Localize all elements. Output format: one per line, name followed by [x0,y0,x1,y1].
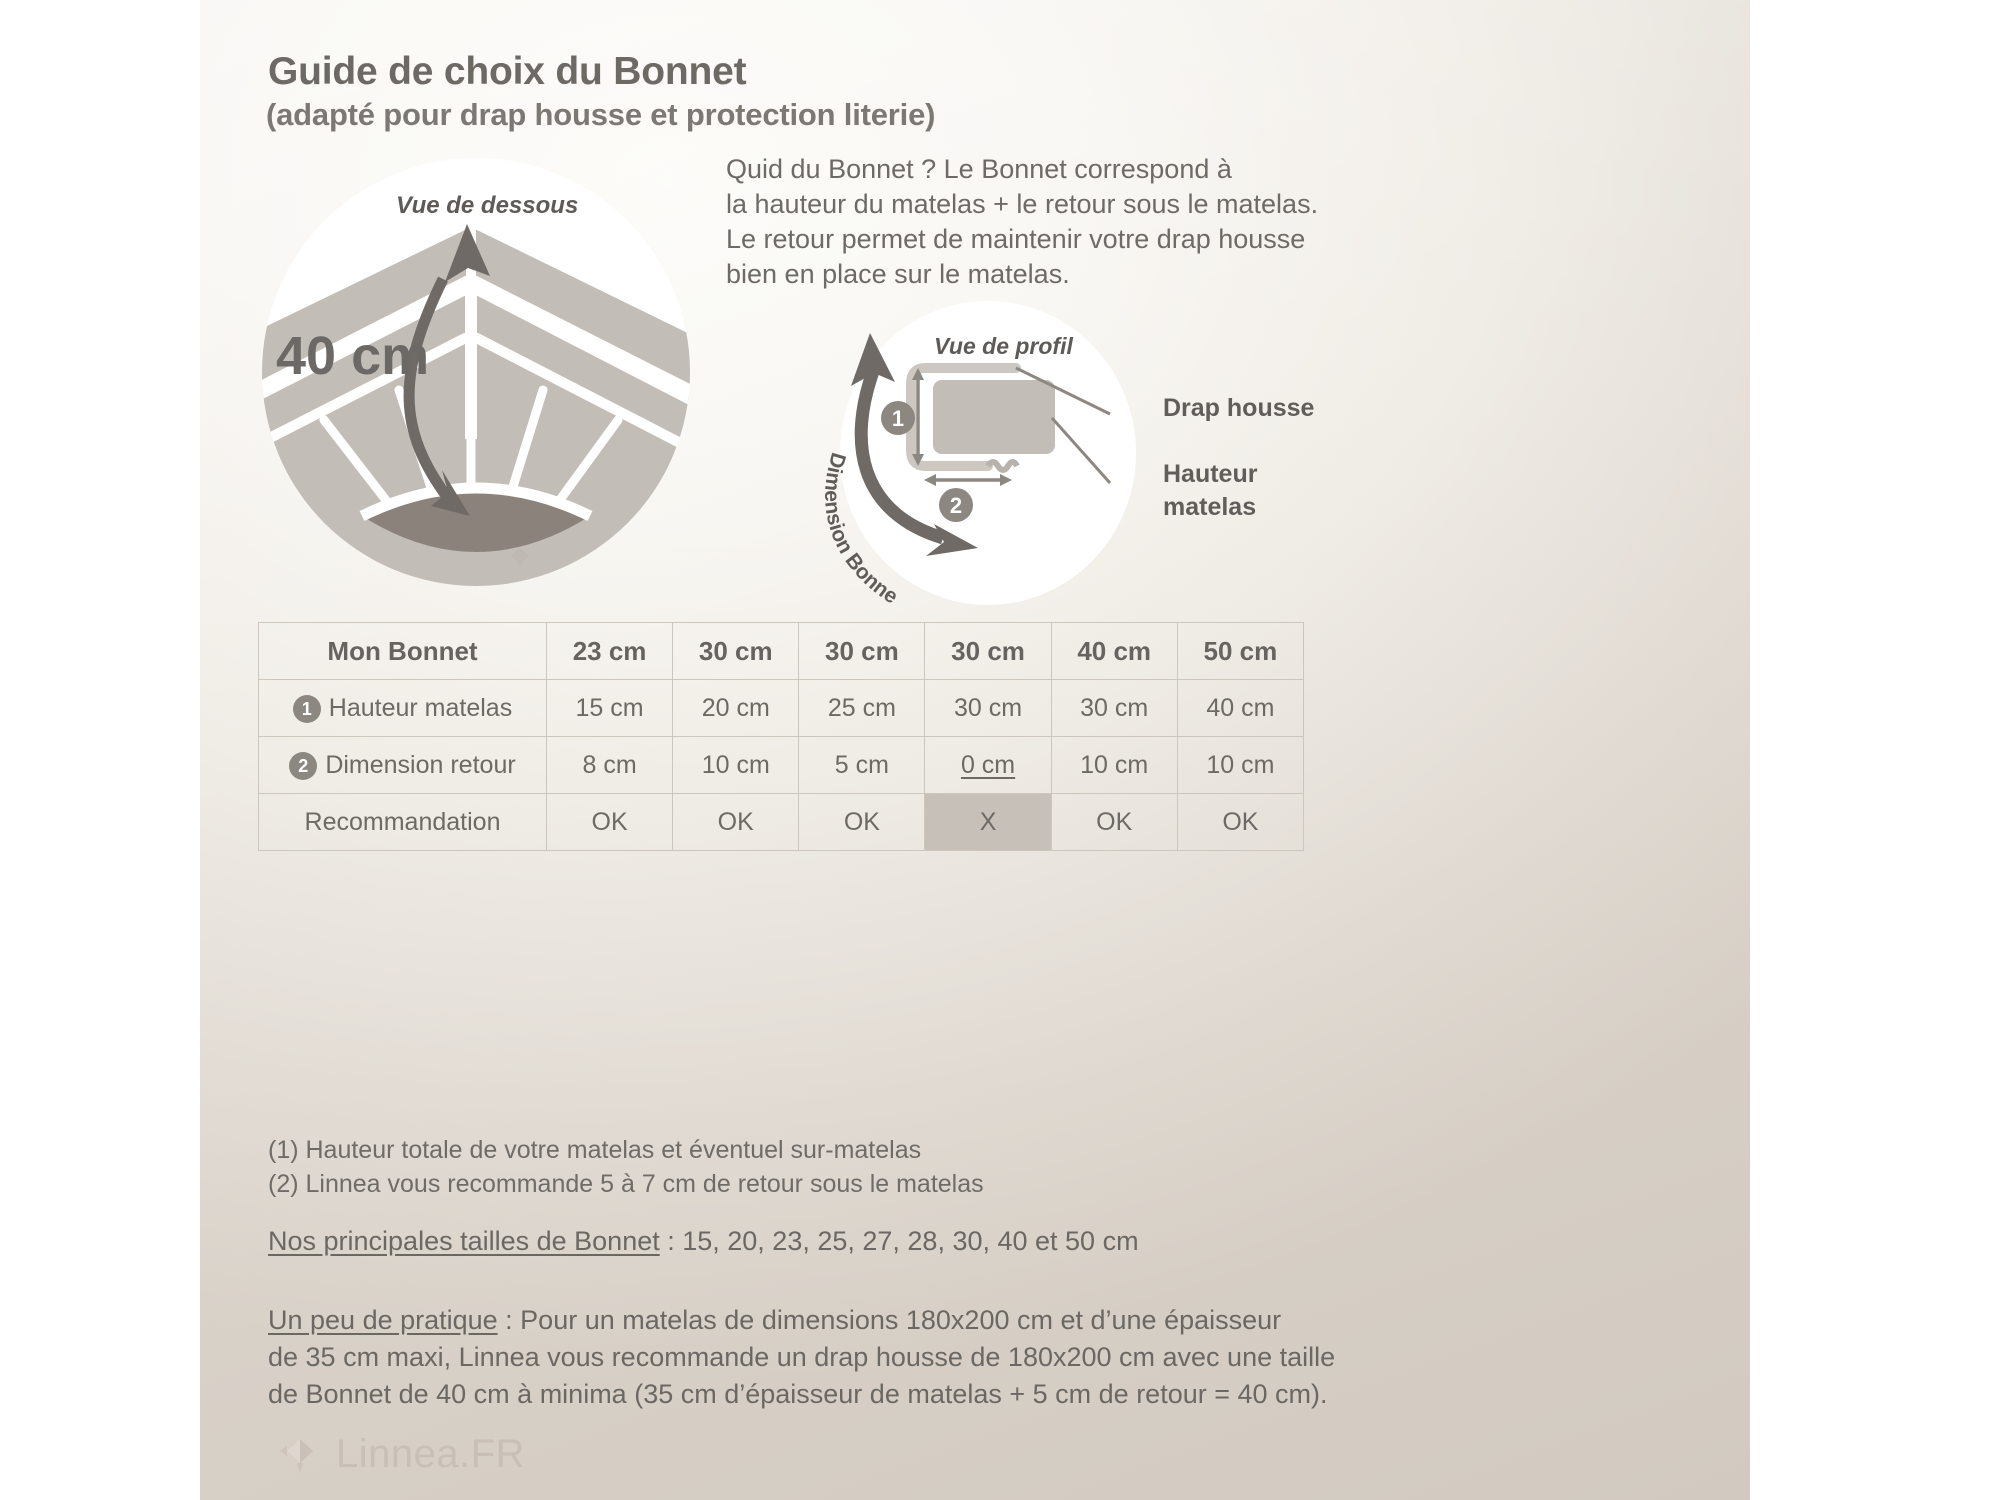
table-header-col-5: 40 cm [1051,623,1177,680]
bottom-view-label: Vue de dessous [396,192,578,220]
infographic-page: Vue de dessous 40 cm [0,0,2000,1500]
table-cell-value: OK [1096,808,1132,836]
table-cell-value: 10 cm [1080,751,1148,779]
table-cell: OK [799,794,925,851]
table-cell: 8 cm [547,737,673,794]
table-cell-value: 0 cm [961,751,1015,779]
table-cell: OK [673,794,799,851]
table-header-col-1: 23 cm [547,623,673,680]
table-cell-value: 8 cm [582,751,636,779]
principal-sizes-line: Nos principales tailles de Bonnet : 15, … [268,1226,1139,1257]
table-cell-value: 15 cm [576,694,644,722]
table-cell: 0 cm [925,737,1051,794]
marker-1-text: 1 [892,406,904,431]
table-cell: 10 cm [1177,737,1303,794]
row-label-text: Dimension retour [325,751,515,780]
table-cell-value: 10 cm [702,751,770,779]
arc-label-text: Dimension Bonnet [812,440,902,608]
table-cell: OK [1051,794,1177,851]
table-row-label: Recommandation [259,794,547,851]
table-cell: 20 cm [673,680,799,737]
footnotes: (1) Hauteur totale de votre matelas et é… [268,1133,984,1201]
svg-text:Dimension Bonnet: Dimension Bonnet [812,440,902,608]
marker-1: 1 [881,401,915,435]
practice-lead: Un peu de pratique [268,1305,498,1335]
row-label-text: Recommandation [305,808,501,837]
callout-hauteur-matelas: Hauteur matelas [1163,458,1257,524]
callout-drap-housse: Drap housse [1163,394,1314,423]
bonnet-measure-label: 40 cm [276,325,429,387]
table-cell-value: 10 cm [1206,751,1274,779]
table-cell: 10 cm [673,737,799,794]
table-header-row: Mon Bonnet 23 cm 30 cm 30 cm 30 cm 40 cm… [259,623,1304,680]
table-row: 1Hauteur matelas15 cm20 cm25 cm30 cm30 c… [259,680,1304,737]
brand-name: Linnea.FR [336,1432,525,1477]
table-header-col-3: 30 cm [799,623,925,680]
table-cell: 10 cm [1051,737,1177,794]
table-cell: X [925,794,1051,851]
row-badge-1: 1 [293,695,321,723]
table-row-label: 1Hauteur matelas [259,680,547,737]
table-cell-value: OK [592,808,628,836]
row-badge-2: 2 [289,752,317,780]
bonnet-guide-table-wrapper: Mon Bonnet 23 cm 30 cm 30 cm 30 cm 40 cm… [258,622,1304,851]
table-cell-value: X [980,808,997,836]
table-cell: 30 cm [925,680,1051,737]
page-subtitle: (adapté pour drap housse et protection l… [266,97,935,133]
table-cell: 30 cm [1051,680,1177,737]
table-cell: 25 cm [799,680,925,737]
linnea-diamond-icon [278,1435,322,1475]
principal-sizes-rest: : 15, 20, 23, 25, 27, 28, 30, 40 et 50 c… [660,1226,1139,1256]
practice-paragraph: Un peu de pratique : Pour un matelas de … [268,1302,1368,1413]
table-header-mon-bonnet: Mon Bonnet [259,623,547,680]
table-row: RecommandationOKOKOKXOKOK [259,794,1304,851]
profile-view-label: Vue de profil [934,333,1073,360]
table-header-col-2: 30 cm [673,623,799,680]
table-cell: 40 cm [1177,680,1303,737]
bonnet-guide-table: Mon Bonnet 23 cm 30 cm 30 cm 30 cm 40 cm… [258,622,1304,851]
table-row: 2Dimension retour8 cm10 cm5 cm0 cm10 cm1… [259,737,1304,794]
row-label-text: Hauteur matelas [329,694,512,723]
page-title: Guide de choix du Bonnet [268,50,746,94]
table-body: 1Hauteur matelas15 cm20 cm25 cm30 cm30 c… [259,680,1304,851]
table-cell-value: OK [718,808,754,836]
brand-logo: Linnea.FR [278,1432,525,1477]
intro-paragraph: Quid du Bonnet ? Le Bonnet correspond à … [726,152,1318,292]
table-cell: OK [547,794,673,851]
table-cell-value: 30 cm [1080,694,1148,722]
table-cell-value: OK [844,808,880,836]
table-cell-value: 20 cm [702,694,770,722]
table-row-label: 2Dimension retour [259,737,547,794]
dimension-bonnet-arc-label: Dimension Bonnet [812,440,1012,610]
table-header-col-4: 30 cm [925,623,1051,680]
table-cell: 5 cm [799,737,925,794]
table-header-col-6: 50 cm [1177,623,1303,680]
table-cell: 15 cm [547,680,673,737]
table-cell-value: OK [1222,808,1258,836]
principal-sizes-lead: Nos principales tailles de Bonnet [268,1226,660,1256]
table-cell-value: 30 cm [954,694,1022,722]
table-cell-value: 5 cm [835,751,889,779]
table-cell-value: 40 cm [1206,694,1274,722]
table-cell-value: 25 cm [828,694,896,722]
table-cell: OK [1177,794,1303,851]
